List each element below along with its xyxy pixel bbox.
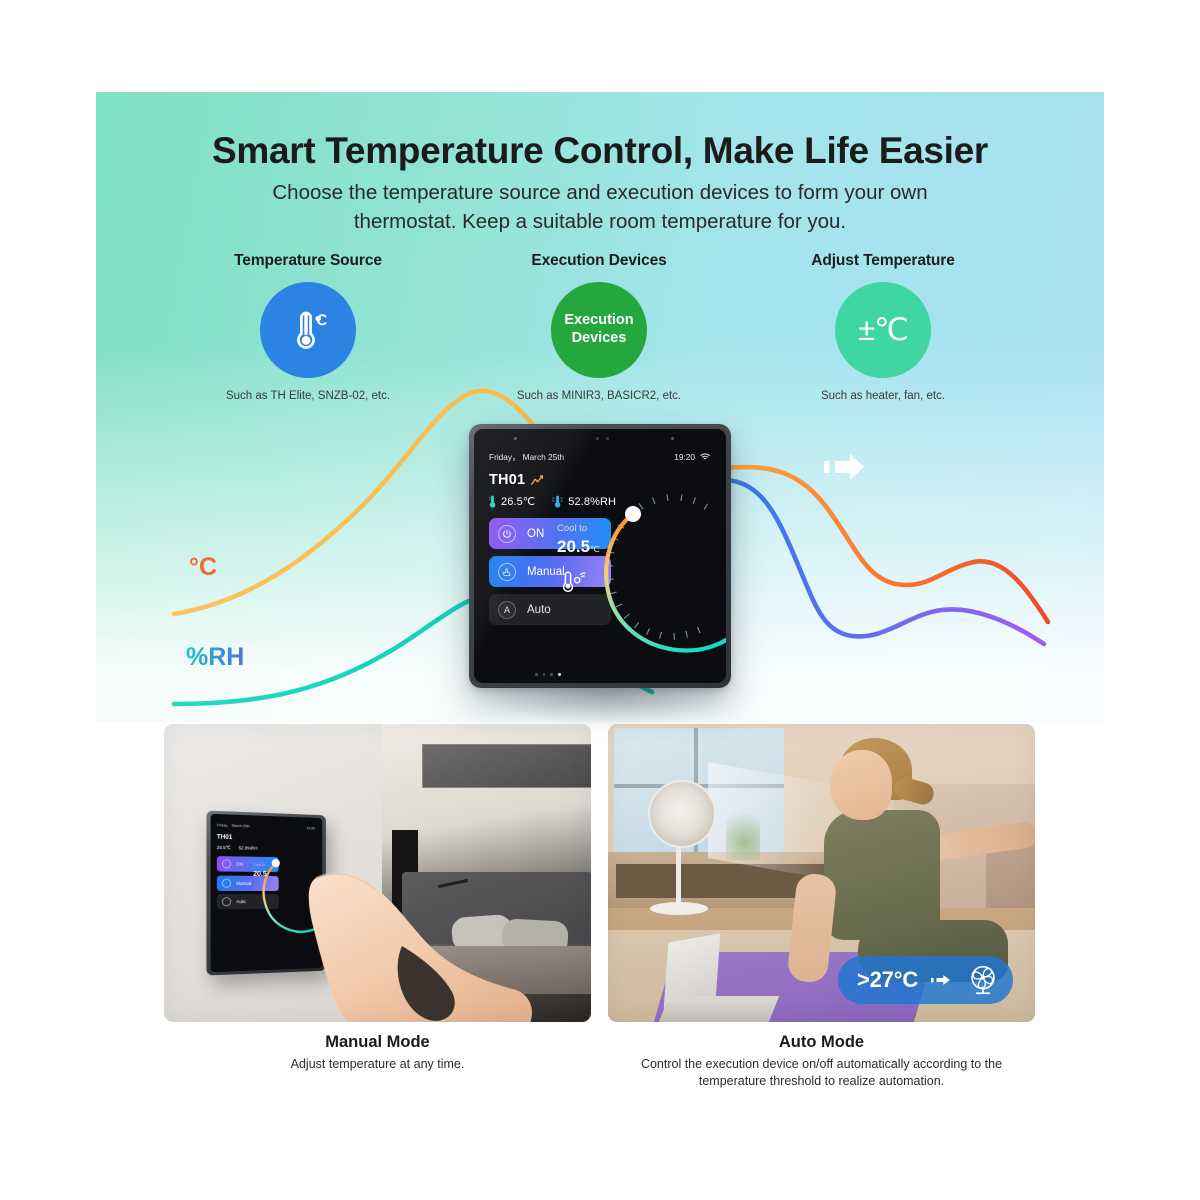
arrow-right-icon [931,973,953,987]
mini-temperature: 26.5℃ [217,845,231,851]
power-on-label: ON [527,528,544,540]
subtitle-line-2: thermostat. Keep a suitable room tempera… [96,207,1104,236]
device-clock-area: 19:20 [674,452,710,462]
device-time: 19:20 [674,452,695,462]
manual-mode-card: Friday， March 25th 19:20 TH01 26.5℃ 52.8… [164,724,591,1073]
hand-touch-icon [222,878,231,887]
page-indicator-dots[interactable] [535,673,561,676]
page-dot [535,673,538,676]
mini-cool-label: Cool to [253,863,265,867]
thermometer-celsius-icon [283,305,333,355]
step-note: Such as heater, fan, etc. [753,390,1013,402]
fan-pole [676,840,681,906]
dial-knob [625,506,641,522]
step-note: Such as TH Elite, SNZB-02, etc. [178,390,438,402]
device-screen[interactable]: Friday， March 25th 19:20 TH01 [474,429,726,683]
fan-icon [966,963,1000,997]
wifi-icon [700,453,710,461]
thermometer-icon [489,495,496,508]
manual-mode-photo: Friday， March 25th 19:20 TH01 26.5℃ 52.8… [164,724,591,1022]
cool-to-label: Cool to [557,523,600,534]
sensor-dot-3 [606,437,609,440]
target-temp-value: 20.5 [557,537,590,556]
sensor-dot-2 [596,437,599,440]
gauge-readout: Cool to 20.5℃ [557,523,600,557]
pointing-hand [302,850,537,1022]
page-dot-active [558,673,561,676]
line-chart-icon[interactable] [531,475,544,486]
mini-target-temp: 20.5 [253,871,266,878]
mini-power-label: ON [236,862,243,867]
target-temperature: 20.5℃ [557,537,600,557]
auto-mode-card: >27°C [608,724,1035,1090]
mode-cards: Friday， March 25th 19:20 TH01 26.5℃ 52.8… [164,724,1040,1094]
humidity-curve-label: %RH [186,643,244,672]
page-dot [543,673,546,676]
fan-base [650,902,708,915]
card-title: Auto Mode [608,1033,1035,1052]
device-date: Friday， March 25th [489,451,564,463]
temperature-source-circle [260,282,356,378]
fan-head [648,780,716,848]
mini-status-bar: Friday， March 25th 19:20 [217,823,322,831]
execution-devices-circle: ExecutionDevices [551,282,647,378]
card-title: Manual Mode [164,1033,591,1052]
power-icon [498,525,516,543]
sensor-dot-1 [514,437,517,440]
adjust-temperature-circle: ±℃ [835,282,931,378]
power-icon [222,859,231,868]
card-description: Adjust temperature at any time. [164,1056,591,1073]
step-execution-devices: Execution Devices ExecutionDevices Such … [469,252,729,402]
page-root: °C %RH Smart Temperature Control, Make L… [0,0,1200,1200]
threshold-value: >27°C [857,967,918,993]
device-name: TH01 [489,472,525,488]
page-subtitle: Choose the temperature source and execut… [96,178,1104,236]
device-status-bar: Friday， March 25th 19:20 [489,451,726,463]
auto-mode-label: Auto [527,604,551,616]
manual-mode-label: Manual [527,566,565,578]
thermostat-device: Friday， March 25th 19:20 TH01 [469,424,731,688]
person-head [830,750,892,820]
execution-devices-icon: ExecutionDevices [564,312,633,347]
step-label: Temperature Source [178,252,438,270]
temperature-dial[interactable] [588,481,726,671]
step-temperature-source: Temperature Source Such as TH Elite, SNZ… [178,252,438,402]
step-adjust-temperature: Adjust Temperature ±℃ Such as heater, fa… [753,252,1013,402]
step-note: Such as MINIR3, BASICR2, etc. [469,390,729,402]
steps-row: Temperature Source Such as TH Elite, SNZ… [96,252,1104,412]
target-temp-unit: ℃ [590,544,600,554]
sensor-dot-4 [671,437,674,440]
temperature-curve-label: °C [189,553,217,582]
letter-a-icon: A [498,601,516,619]
thermostat-wifi-icon [561,569,587,593]
mini-manual-label: Manual [236,880,251,885]
page-dot [550,673,553,676]
step-label: Adjust Temperature [753,252,1013,270]
auto-mode-photo: >27°C [608,724,1035,1022]
page-title: Smart Temperature Control, Make Life Eas… [96,130,1104,172]
arrow-right-icon-2 [820,450,874,484]
card-description: Control the execution device on/off auto… [608,1056,1035,1090]
room-shelf [422,744,591,788]
mini-auto-label: Auto [236,899,246,904]
device-ui: Friday， March 25th 19:20 TH01 [489,451,726,683]
humidity-icon [552,495,563,508]
mini-device-name: TH01 [217,833,322,843]
laptop-base [659,996,780,1022]
mini-date: Friday， March 25th [217,823,250,829]
letter-a-icon [222,897,231,906]
subtitle-line-1: Choose the temperature source and execut… [96,178,1104,207]
mini-time: 19:20 [306,826,314,831]
hand-touch-icon [498,563,516,581]
auto-threshold-badge: >27°C [838,956,1013,1004]
step-label: Execution Devices [469,252,729,270]
temperature-value: 26.5℃ [501,495,535,508]
temperature-reading: 26.5℃ [489,495,535,508]
plus-minus-celsius-icon: ±℃ [858,311,908,349]
